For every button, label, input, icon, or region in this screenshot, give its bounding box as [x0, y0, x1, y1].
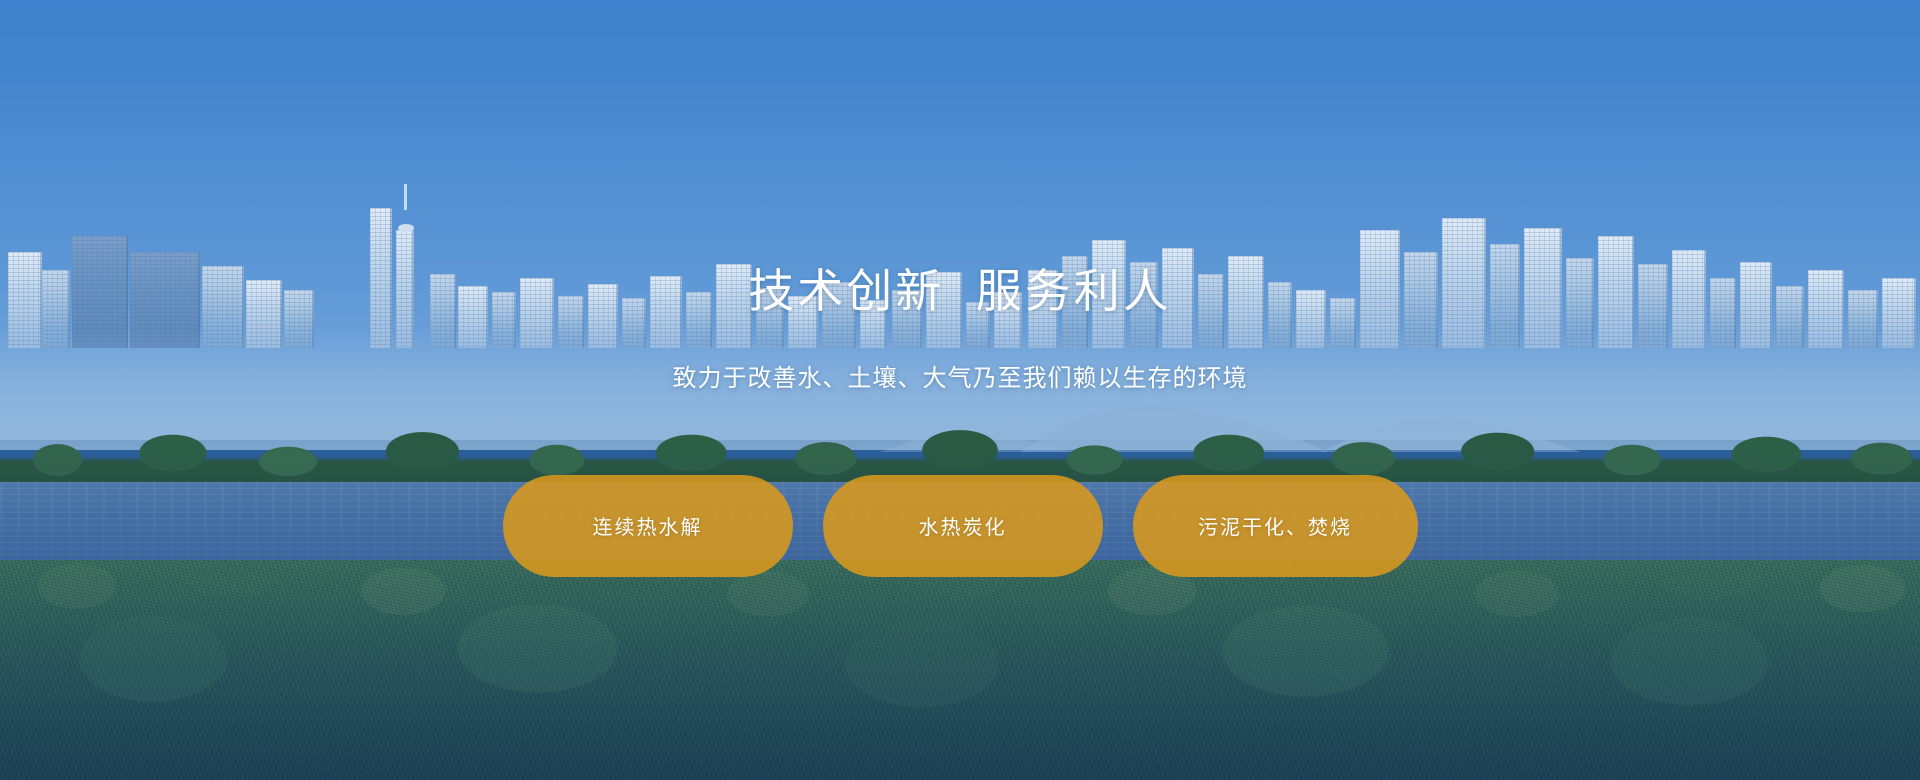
hero-headline: 技术创新 服务利人 — [748, 268, 1172, 314]
hero-button-continuous-thermal-hydrolysis[interactable]: 连续热水解 — [503, 475, 793, 577]
hero-button-row: 连续热水解 水热炭化 污泥干化、焚烧 — [503, 475, 1418, 577]
hero-subtitle: 致力于改善水、土壤、大气乃至我们赖以生存的环境 — [673, 367, 1248, 391]
hero-button-hydrothermal-carbonization[interactable]: 水热炭化 — [823, 475, 1103, 577]
hero-button-sludge-drying-incineration[interactable]: 污泥干化、焚烧 — [1133, 475, 1418, 577]
hero-banner: 技术创新 服务利人 致力于改善水、土壤、大气乃至我们赖以生存的环境 连续热水解 … — [0, 0, 1920, 780]
hero-content: 技术创新 服务利人 致力于改善水、土壤、大气乃至我们赖以生存的环境 连续热水解 … — [0, 0, 1920, 780]
